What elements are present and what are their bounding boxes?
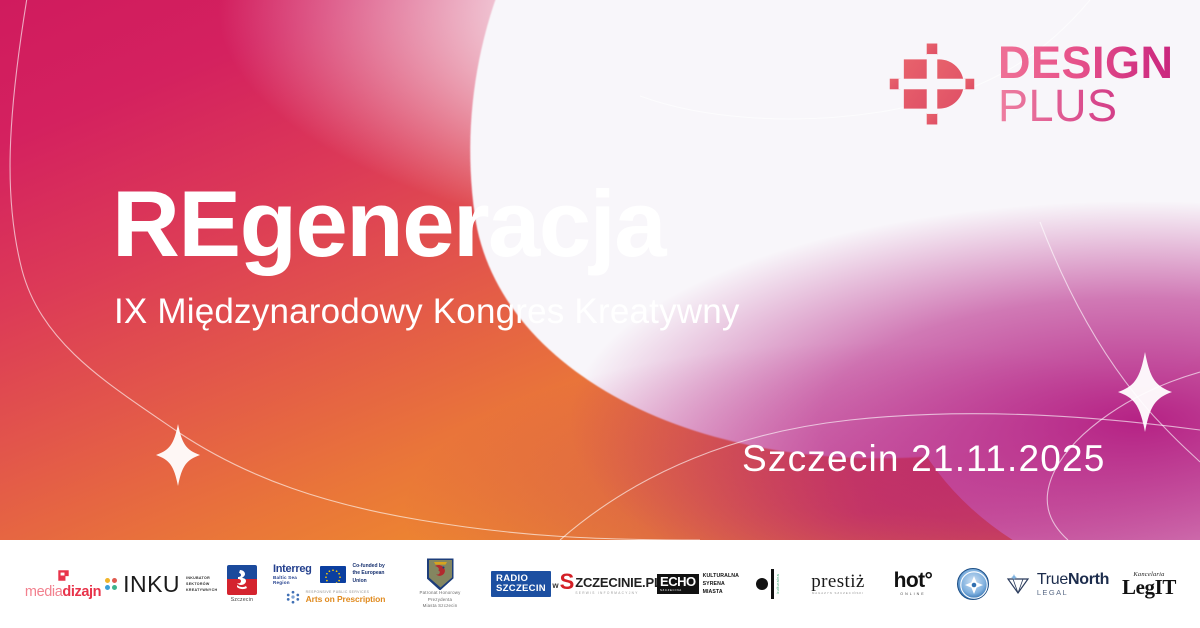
mediadizajn-name-bold: dizajn (62, 584, 101, 600)
design-plus-logo[interactable]: DESIGN PLUS (888, 40, 1174, 128)
brand-name-plus: PLUS (998, 84, 1174, 127)
sponsor-truenorth[interactable]: TrueNorth LEGAL (1001, 540, 1113, 628)
inku-name: INKU (123, 571, 180, 598)
sponsor-interreg[interactable]: Interreg Baltic Sea Region (273, 540, 397, 628)
wszczecinie-accent: S (560, 573, 575, 591)
sponsor-wszczecinie[interactable]: w S ZCZECINIE.PL SERWIS INFORMACYJNY (559, 540, 655, 628)
szczecin-coat-of-arms-icon (427, 558, 454, 590)
szczecin-city-mark-icon (227, 565, 257, 595)
truenorth-name: TrueNorth (1037, 571, 1109, 588)
sponsor-szczecin-city[interactable]: Szczecin (211, 540, 273, 628)
sponsor-kulturalna[interactable]: kulturalna (741, 540, 795, 628)
interreg-title: Interreg (273, 563, 313, 575)
brand-name-design: DESIGN (998, 41, 1174, 84)
truenorth-diamond-icon (1005, 572, 1031, 596)
design-plus-mark-icon (888, 40, 976, 128)
arts-on-prescription-icon (285, 589, 301, 605)
eu-flag-icon (320, 566, 346, 583)
wszczecinie-tagline: SERWIS INFORMACYJNY (575, 591, 638, 595)
hot-tagline: ONLINE (900, 592, 925, 596)
sponsor-inku[interactable]: INKU INKUBATOR SEKTORÓW KREATYWNYCH (111, 540, 211, 628)
sponsor-echo[interactable]: ECHO SZCZECINA KULTURALNA SYRENA MIASTA (655, 540, 741, 628)
eu-funding-text: Co-funded by the European Union (353, 563, 397, 586)
kulturalna-dot-icon (756, 578, 768, 590)
sponsor-mediadizajn[interactable]: mediadizajn (15, 540, 111, 628)
prestiz-tagline: MAGAZYN SZCZECIŃSKI (812, 591, 864, 595)
sponsor-prestiz[interactable]: prestiż MAGAZYN SZCZECIŃSKI (795, 540, 881, 628)
inku-dots-icon (105, 578, 118, 591)
kulturalna-vertical-label: kulturalna (776, 574, 780, 594)
echo-tagline: KULTURALNA SYRENA MIASTA (703, 572, 739, 596)
sponsor-hot[interactable]: hot° ONLINE (881, 540, 945, 628)
truenorth-tagline: LEGAL (1037, 589, 1109, 597)
interreg-subtitle: Baltic Sea Region (273, 575, 313, 585)
hero-background: REgeneracja IX Międzynarodowy Kongres Kr… (0, 0, 1200, 540)
izba-gospodarcza-seal-icon (957, 568, 989, 600)
page-title: REgeneracja (112, 176, 665, 272)
sponsor-legit[interactable]: Kancelaria LegIT (1113, 540, 1185, 628)
wszczecinie-rest: ZCZECINIE.PL (575, 575, 661, 590)
mediadizajn-name-light: media (25, 584, 63, 600)
mediadizajn-mark-icon (57, 569, 70, 582)
echo-mark-icon: ECHO SZCZECINA (657, 574, 699, 593)
wszczecinie-prefix: w (552, 581, 558, 590)
sponsor-radio-szczecin[interactable]: RADIO SZCZECIN (483, 540, 559, 628)
event-banner: REgeneracja IX Międzynarodowy Kongres Kr… (0, 0, 1200, 628)
hot-name: hot° (894, 572, 933, 591)
kulturalna-bar-icon (771, 569, 774, 599)
sponsor-patronat[interactable]: Patronat Honorowy Prezydenta Miasta Szcz… (397, 540, 483, 628)
arts-programme-name: Arts on Prescription (306, 594, 386, 604)
sponsor-izba-gospodarcza[interactable] (945, 540, 1001, 628)
radio-szczecin-mark-icon: RADIO SZCZECIN (491, 571, 551, 598)
echo-name: ECHO (660, 577, 696, 588)
sponsor-logo-strip: mediadizajn INKU INKUBATOR SEKTORÓW KREA… (0, 540, 1200, 628)
radio-szczecin-line2: SZCZECIN (496, 584, 546, 594)
event-date-location: Szczecin 21.11.2025 (742, 438, 1106, 480)
legit-name: LegIT (1122, 578, 1176, 597)
page-subtitle: IX Międzynarodowy Kongres Kreatywny (114, 292, 740, 332)
prestiz-name: prestiż (811, 573, 864, 591)
szczecin-city-caption: Szczecin (231, 597, 253, 603)
patronat-caption: Patronat Honorowy Prezydenta Miasta Szcz… (420, 590, 461, 609)
